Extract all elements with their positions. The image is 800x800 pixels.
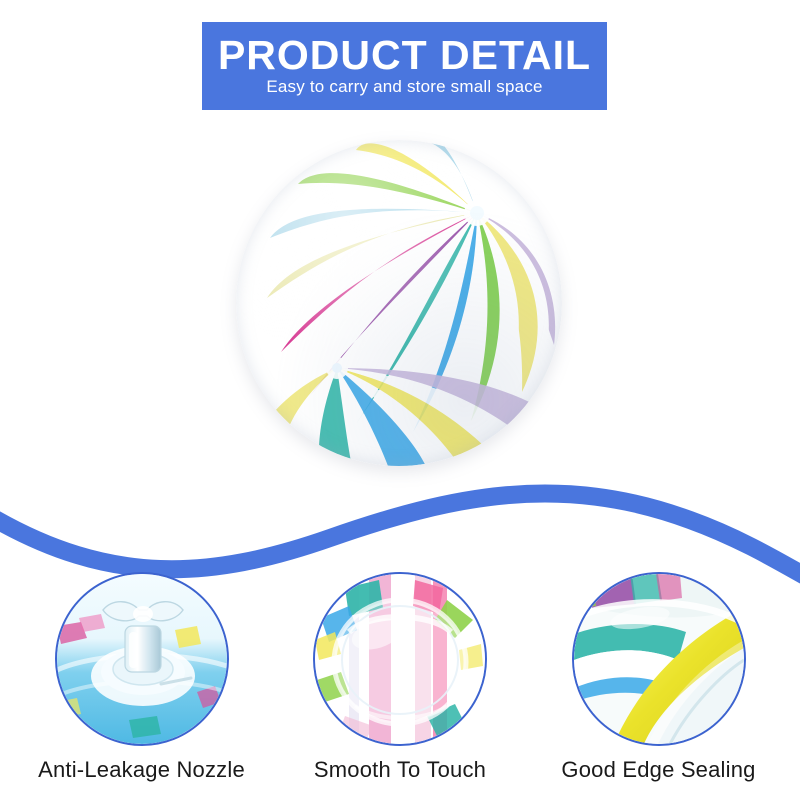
feature-label-nozzle: Anti-Leakage Nozzle — [38, 758, 245, 782]
feature-label-smooth: Smooth To Touch — [314, 758, 486, 782]
edge-seam-icon — [574, 574, 744, 744]
feature-thumbnail-nozzle[interactable] — [55, 572, 229, 746]
smooth-surface-icon — [315, 574, 485, 744]
feature-thumbnail-smooth[interactable] — [313, 572, 487, 746]
hero-product-image — [236, 140, 562, 466]
feature-thumbnail-edge[interactable] — [572, 572, 746, 746]
wave-divider — [0, 468, 800, 588]
feature-label-edge: Good Edge Sealing — [561, 758, 755, 782]
header-banner: PRODUCT DETAIL Easy to carry and store s… — [202, 22, 607, 110]
feature-item-nozzle[interactable]: Anti-Leakage Nozzle — [34, 572, 249, 800]
page-title: PRODUCT DETAIL — [218, 35, 591, 76]
beach-ball-graphic — [236, 140, 562, 466]
valve-nozzle-icon — [57, 574, 227, 744]
product-detail-page: PRODUCT DETAIL Easy to carry and store s… — [0, 0, 800, 800]
beach-ball-stripes — [236, 140, 562, 466]
feature-item-smooth[interactable]: Smooth To Touch — [293, 572, 508, 800]
feature-list: Anti-Leakage Nozzle — [0, 572, 800, 800]
feature-item-edge[interactable]: Good Edge Sealing — [551, 572, 766, 800]
page-subtitle: Easy to carry and store small space — [266, 78, 542, 97]
